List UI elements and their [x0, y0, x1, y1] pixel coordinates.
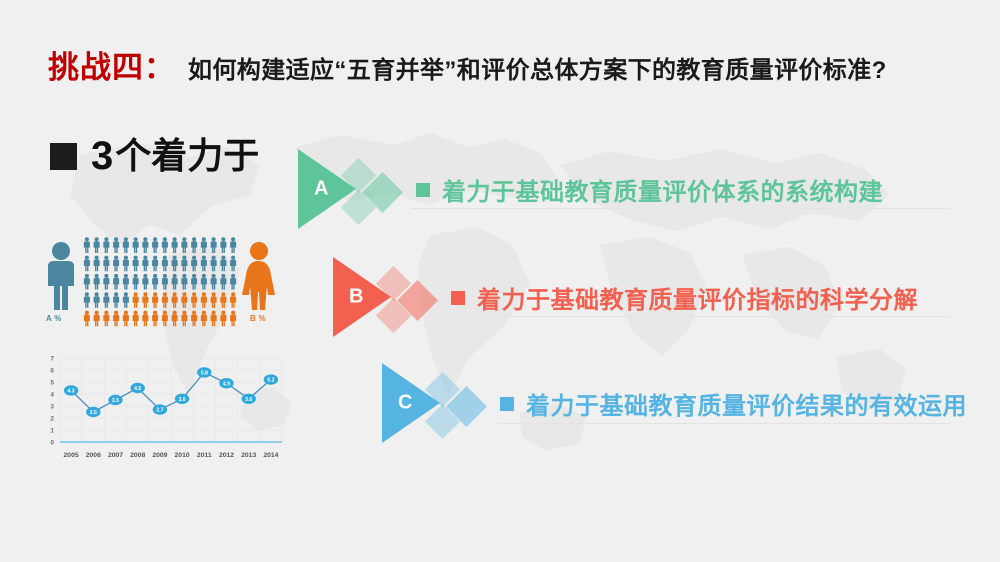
- chart-point-label: 3.6: [178, 397, 185, 403]
- male-figure-icon: [133, 256, 139, 272]
- x-tick-label: 2010: [175, 452, 190, 459]
- male-figure-icon: [84, 292, 90, 308]
- marker-letter-a: A: [314, 178, 329, 201]
- female-figure-icon: [230, 311, 236, 327]
- title-text: 如何构建适应“五育并举”和评价总体方案下的教育质量评价标准?: [188, 50, 887, 85]
- x-tick-label: 2008: [130, 452, 145, 459]
- marker-letter-b: B: [349, 286, 364, 309]
- male-figure-icon: [152, 274, 158, 290]
- male-figure-icon: [84, 274, 90, 290]
- male-figure-icon: [103, 256, 109, 272]
- square-bullet-icon: [451, 291, 465, 305]
- item-body-c: 着力于基础教育质量评价结果的有效运用: [494, 386, 967, 421]
- female-figure-icon: [230, 292, 236, 308]
- slide-title: 挑战四 ： 如何构建适应“五育并举”和评价总体方案下的教育质量评价标准?: [48, 42, 887, 87]
- item-text-a: 着力于基础教育质量评价体系的系统构建: [442, 172, 883, 207]
- x-tick-label: 2014: [263, 452, 278, 459]
- line-chart-svg: 012345674.32.53.54.52.73.65.84.93.65.220…: [36, 350, 288, 468]
- slide-canvas: 挑战四 ： 如何构建适应“五育并举”和评价总体方案下的教育质量评价标准? 3 个…: [0, 0, 1000, 562]
- male-figure-icon: [162, 256, 168, 272]
- chart-point-label: 2.5: [90, 410, 97, 416]
- item-text-c: 着力于基础教育质量评价结果的有效运用: [526, 386, 967, 421]
- y-tick-label: 0: [50, 440, 54, 447]
- male-figure-icon: [181, 256, 187, 272]
- male-figure-icon: [211, 256, 217, 272]
- chart-point-label: 4.3: [67, 389, 74, 395]
- male-figure-icon: [142, 256, 148, 272]
- female-figure-icon: [172, 311, 178, 327]
- female-figure-icon: [113, 311, 119, 327]
- female-figure-icon: [211, 292, 217, 308]
- male-figure-icon: [103, 237, 109, 253]
- female-figure-icon: [133, 292, 139, 308]
- list-item-a[interactable]: A 着力于基础教育质量评价体系的系统构建: [298, 146, 883, 232]
- male-figure-icon: [181, 274, 187, 290]
- y-tick-label: 2: [50, 416, 54, 423]
- female-figure-icon: [162, 311, 168, 327]
- female-figure-icon: [152, 311, 158, 327]
- y-tick-label: 7: [50, 356, 54, 363]
- male-figure-icon: [133, 237, 139, 253]
- male-figure-icon: [172, 256, 178, 272]
- male-figure-icon: [162, 274, 168, 290]
- marker-a: A: [298, 146, 410, 232]
- male-figure-icon: [162, 237, 168, 253]
- title-colon: ：: [144, 43, 174, 87]
- male-figure-icon: [191, 274, 197, 290]
- male-figure-icon: [172, 237, 178, 253]
- male-figure-icon: [142, 237, 148, 253]
- male-figure-icon: [191, 256, 197, 272]
- marker-b: B: [333, 254, 445, 340]
- item-body-b: 着力于基础教育质量评价指标的科学分解: [445, 280, 918, 315]
- male-figure-icon: [94, 256, 100, 272]
- male-figure-icon: [152, 256, 158, 272]
- pictogram-female-label: B %: [250, 314, 266, 323]
- y-tick-label: 6: [50, 368, 54, 375]
- female-figure-icon: [152, 292, 158, 308]
- pictogram-male-label: A %: [46, 314, 62, 323]
- male-figure-icon: [230, 237, 236, 253]
- x-tick-label: 2007: [108, 452, 123, 459]
- female-figure-icon: [211, 311, 217, 327]
- female-figure-icon: [84, 311, 90, 327]
- male-figure-icon: [230, 274, 236, 290]
- x-tick-label: 2011: [197, 452, 212, 459]
- x-tick-label: 2006: [86, 452, 101, 459]
- x-tick-label: 2012: [219, 452, 234, 459]
- line-chart: 012345674.32.53.54.52.73.65.84.93.65.220…: [36, 350, 288, 468]
- male-figure-icon: [113, 237, 119, 253]
- male-figure-icon: [220, 256, 226, 272]
- square-bullet-icon: [416, 183, 430, 197]
- female-figure-icon: [220, 292, 226, 308]
- x-tick-label: 2005: [64, 452, 79, 459]
- marker-c: C: [382, 360, 494, 446]
- filled-square-icon: [50, 143, 77, 170]
- male-figure-icon: [123, 256, 129, 272]
- y-tick-label: 5: [50, 380, 54, 387]
- female-figure-icon: [172, 292, 178, 308]
- item-divider-c: [498, 423, 950, 424]
- male-figure-icon: [181, 237, 187, 253]
- y-tick-label: 3: [50, 404, 54, 411]
- female-figure-icon: [191, 311, 197, 327]
- chart-point-label: 4.9: [223, 381, 230, 387]
- male-figure-icon: [94, 292, 100, 308]
- male-figure-icon: [113, 256, 119, 272]
- male-figure-icon: [94, 237, 100, 253]
- male-figure-icon: [113, 274, 119, 290]
- female-figure-icon: [201, 292, 207, 308]
- item-divider-a: [412, 208, 950, 209]
- square-bullet-icon: [500, 397, 514, 411]
- female-figure-icon: [133, 311, 139, 327]
- pictogram-infographic: A % B %: [36, 236, 284, 332]
- female-figure-icon: [103, 311, 109, 327]
- male-figure-icon: [123, 237, 129, 253]
- male-figure-icon: [201, 274, 207, 290]
- male-figure-icon: [84, 256, 90, 272]
- male-figure-icon: [220, 237, 226, 253]
- male-figure-icon: [152, 237, 158, 253]
- title-badge: 挑战四: [48, 42, 144, 87]
- female-figure-icon: [242, 240, 276, 312]
- male-figure-icon: [94, 274, 100, 290]
- male-figure-icon: [84, 237, 90, 253]
- female-figure-icon: [94, 311, 100, 327]
- female-figure-icon: [181, 292, 187, 308]
- male-figure-icon: [113, 292, 119, 308]
- male-figure-icon: [230, 256, 236, 272]
- chart-point-label: 2.7: [156, 408, 163, 414]
- female-figure-icon: [123, 311, 129, 327]
- chart-point-label: 5.2: [267, 378, 274, 384]
- male-figure-icon: [103, 292, 109, 308]
- male-figure-icon: [142, 274, 148, 290]
- chart-point-label: 3.5: [112, 398, 119, 404]
- left-heading: 3 个着力于: [50, 136, 259, 176]
- list-item-b[interactable]: B 着力于基础教育质量评价指标的科学分解: [333, 254, 918, 340]
- male-figure-icon: [172, 274, 178, 290]
- item-divider-b: [448, 316, 950, 317]
- male-figure-icon: [201, 237, 207, 253]
- chart-point-label: 5.8: [201, 371, 208, 377]
- male-figure-icon: [44, 240, 78, 312]
- left-heading-number: 3: [91, 136, 113, 176]
- male-figure-icon: [201, 256, 207, 272]
- male-figure-icon: [123, 292, 129, 308]
- male-figure-icon: [211, 274, 217, 290]
- item-text-b: 着力于基础教育质量评价指标的科学分解: [477, 280, 918, 315]
- x-tick-label: 2013: [241, 452, 256, 459]
- female-figure-icon: [142, 311, 148, 327]
- female-figure-icon: [142, 292, 148, 308]
- y-tick-label: 1: [50, 428, 54, 435]
- female-figure-icon: [181, 311, 187, 327]
- chart-point-label: 3.6: [245, 397, 252, 403]
- female-figure-icon: [220, 311, 226, 327]
- male-figure-icon: [133, 274, 139, 290]
- x-tick-label: 2009: [152, 452, 167, 459]
- marker-letter-c: C: [398, 392, 413, 415]
- male-figure-icon: [220, 274, 226, 290]
- male-figure-icon: [103, 274, 109, 290]
- male-figure-icon: [211, 237, 217, 253]
- female-figure-icon: [191, 292, 197, 308]
- item-body-a: 着力于基础教育质量评价体系的系统构建: [410, 172, 883, 207]
- chart-point-label: 4.5: [134, 386, 141, 392]
- female-figure-icon: [201, 311, 207, 327]
- male-figure-icon: [191, 237, 197, 253]
- pictogram-grid: [82, 236, 238, 328]
- female-figure-icon: [162, 292, 168, 308]
- y-tick-label: 4: [50, 392, 54, 399]
- left-heading-text: 个着力于: [115, 138, 259, 174]
- male-figure-icon: [123, 274, 129, 290]
- list-item-c[interactable]: C 着力于基础教育质量评价结果的有效运用: [382, 360, 967, 446]
